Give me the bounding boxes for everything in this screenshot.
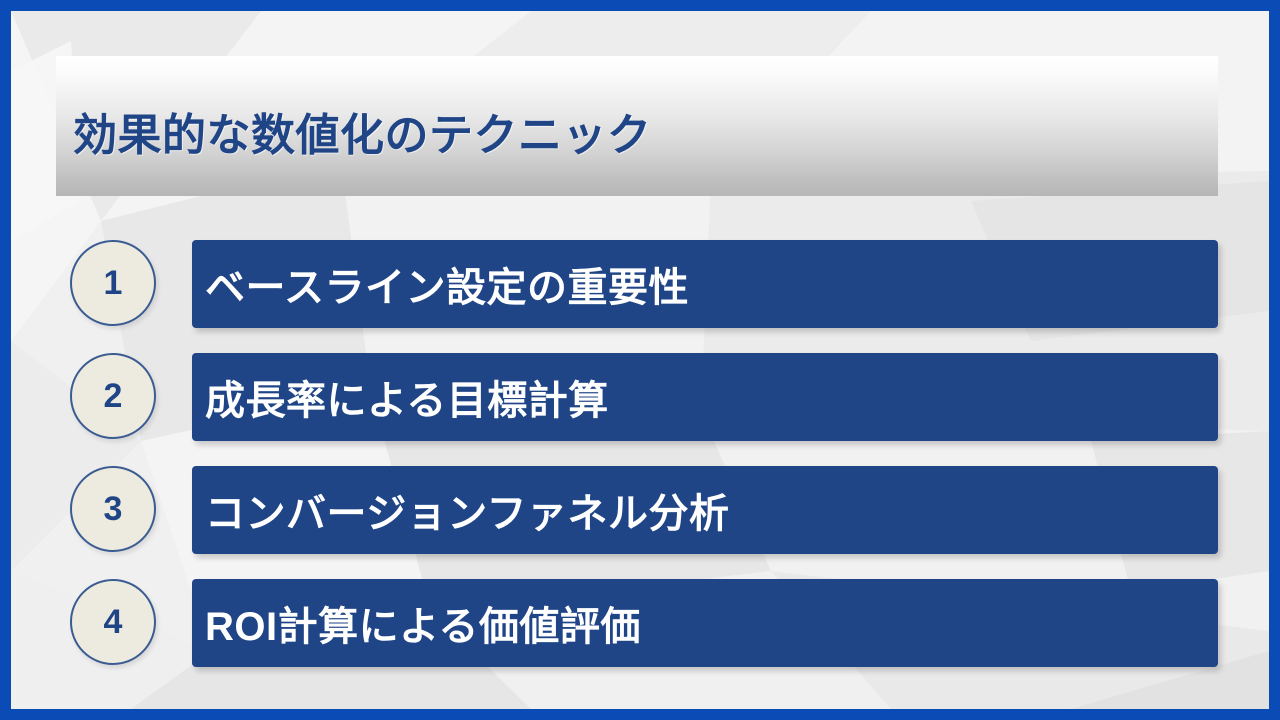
- list-item-bar[interactable]: ROI計算による価値評価: [192, 579, 1218, 667]
- list-item-label: ROI計算による価値評価: [192, 594, 641, 652]
- list-item-bar[interactable]: 成長率による目標計算: [192, 353, 1218, 441]
- list-item-label: コンバージョンファネル分析: [192, 481, 730, 539]
- list-item-bar[interactable]: コンバージョンファネル分析: [192, 466, 1218, 554]
- list-item-label: 成長率による目標計算: [192, 368, 609, 426]
- list-item-label: ベースライン設定の重要性: [192, 255, 689, 313]
- list-item-bar[interactable]: ベースライン設定の重要性: [192, 240, 1218, 328]
- list-item[interactable]: 3 コンバージョンファネル分析: [11, 466, 1269, 554]
- list-item[interactable]: 2 成長率による目標計算: [11, 353, 1269, 441]
- list-item-number-badge: 1: [70, 240, 156, 326]
- list-item-number-badge: 3: [70, 466, 156, 552]
- list-item-number-badge: 4: [70, 579, 156, 665]
- slide-canvas: 効果的な数値化のテクニック 1 ベースライン設定の重要性 2 成長率による目標計…: [11, 11, 1269, 709]
- list-item[interactable]: 4 ROI計算による価値評価: [11, 579, 1269, 667]
- list-item-number-badge: 2: [70, 353, 156, 439]
- list-item[interactable]: 1 ベースライン設定の重要性: [11, 240, 1269, 328]
- presentation-slide: 効果的な数値化のテクニック 1 ベースライン設定の重要性 2 成長率による目標計…: [0, 0, 1280, 720]
- technique-list: 1 ベースライン設定の重要性 2 成長率による目標計算 3 コンバージョンファネ…: [11, 11, 1269, 709]
